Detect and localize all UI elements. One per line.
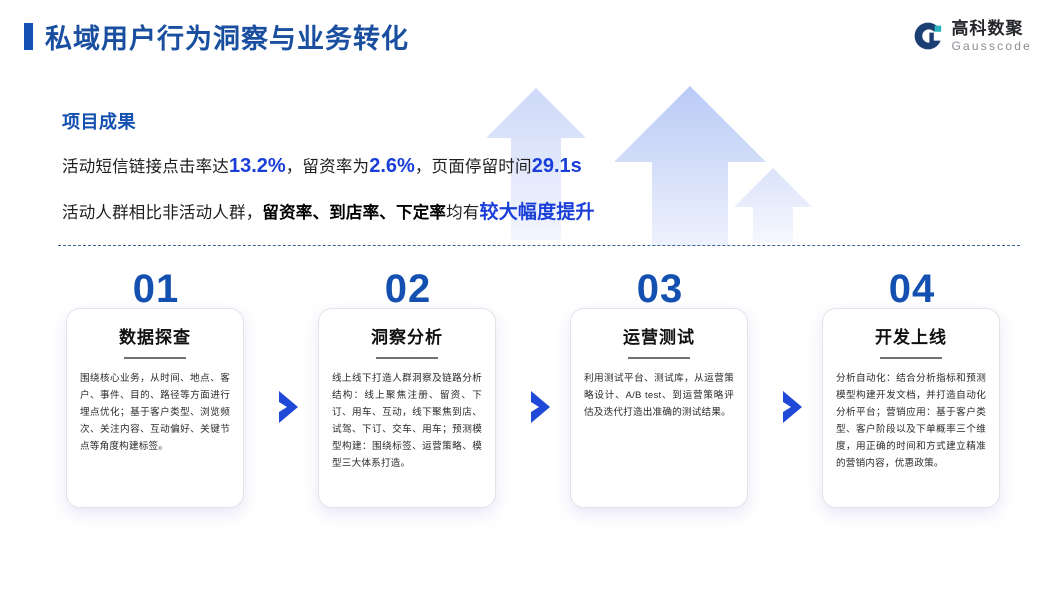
results-line2-part2: 均有 [446,204,479,222]
section-divider [58,245,1020,246]
step-number-02: 02 [319,267,497,312]
metric-dwell-time: 29.1s [532,155,582,177]
step-rule-01 [124,357,186,359]
chevron-right-icon-2 [528,390,554,424]
brand-logo: 高科数聚 Gausscode [912,20,1032,52]
gausscode-logo-icon [912,20,944,52]
step-body-03: 利用测试平台、测试库，从运营策略设计、A/B test、到运营策略评估及迭代打造… [584,370,734,421]
step-title-04: 开发上线 [823,323,999,348]
logo-name-cn: 高科数聚 [951,20,1032,37]
step-rule-03 [628,357,690,359]
page-title: 私域用户行为洞察与业务转化 [45,17,409,56]
title-bullet-icon [24,23,33,50]
results-line2-highlight: 较大幅度提升 [480,202,595,223]
results-line2-bold: 留资率、到店率、下定率 [262,204,446,222]
step-card-03[interactable]: 03 运营测试 利用测试平台、测试库，从运营策略设计、A/B test、到运营策… [570,308,748,508]
results-line1-part3: ，页面停留时间 [415,158,532,176]
slide: 私域用户行为洞察与业务转化 高科数聚 Gausscode 项目成果 活动短信链接… [0,0,1048,591]
results-line2-part1: 活动人群相比非活动人群， [62,204,262,222]
step-card-01[interactable]: 01 数据探查 围绕核心业务，从时间、地点、客户、事件、目的、路径等方面进行埋点… [66,308,244,508]
step-title-02: 洞察分析 [319,323,495,348]
step-number-03: 03 [571,267,749,312]
step-number-04: 04 [823,267,1001,312]
results-line-2: 活动人群相比非活动人群，留资率、到店率、下定率均有较大幅度提升 [62,197,762,224]
step-rule-04 [880,357,942,359]
step-body-04: 分析自动化：结合分析指标和预测模型构建开发文档，并打造自动化分析平台；营销应用：… [836,370,986,472]
project-results-block: 项目成果 活动短信链接点击率达13.2%，留资率为2.6%，页面停留时间29.1… [62,108,762,224]
results-heading: 项目成果 [62,108,762,134]
results-line1-part2: ，留资率为 [286,158,370,176]
chevron-right-icon-1 [276,390,302,424]
step-body-01: 围绕核心业务，从时间、地点、客户、事件、目的、路径等方面进行埋点优化；基于客户类… [80,370,230,455]
step-title-03: 运营测试 [571,323,747,348]
results-line-1: 活动短信链接点击率达13.2%，留资率为2.6%，页面停留时间29.1s [62,153,762,178]
logo-name-en: Gausscode [951,40,1032,52]
step-number-01: 01 [67,267,245,312]
step-body-02: 线上线下打造人群洞察及链路分析结构：线上聚焦注册、留资、下订、用车、互动，线下聚… [332,370,482,472]
step-rule-02 [376,357,438,359]
step-title-01: 数据探查 [67,323,243,348]
chevron-right-icon-3 [780,390,806,424]
process-steps: 01 数据探查 围绕核心业务，从时间、地点、客户、事件、目的、路径等方面进行埋点… [0,268,1048,528]
results-line1-part1: 活动短信链接点击率达 [62,158,229,176]
slide-header: 私域用户行为洞察与业务转化 高科数聚 Gausscode [0,0,1048,78]
step-card-04[interactable]: 04 开发上线 分析自动化：结合分析指标和预测模型构建开发文档，并打造自动化分析… [822,308,1000,508]
step-card-02[interactable]: 02 洞察分析 线上线下打造人群洞察及链路分析结构：线上聚焦注册、留资、下订、用… [318,308,496,508]
metric-lead-rate: 2.6% [369,155,415,177]
metric-click-rate: 13.2% [229,155,286,177]
